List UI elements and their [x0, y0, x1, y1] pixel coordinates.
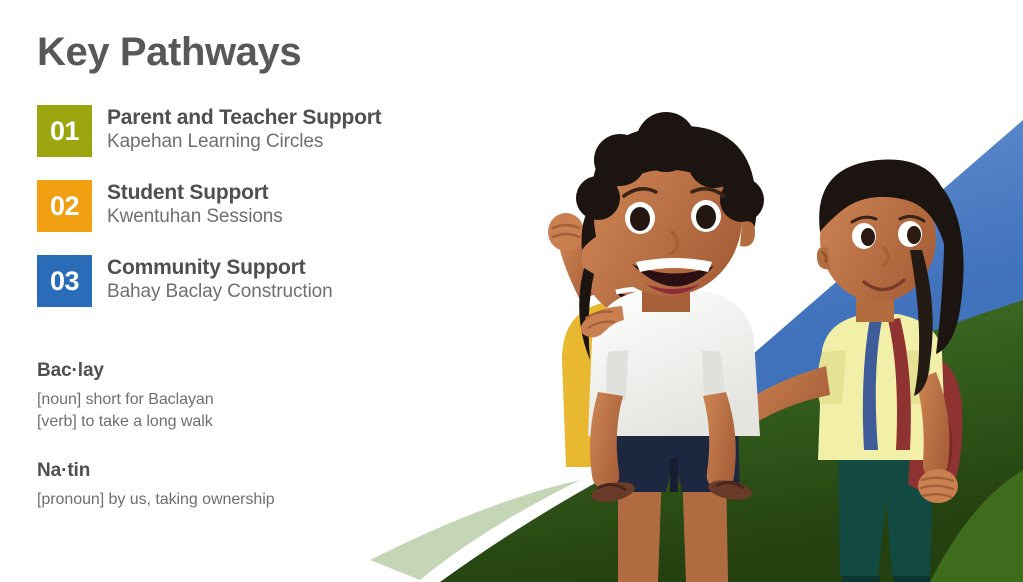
right-hand [918, 469, 958, 503]
glossary-definition-baclay-noun: [noun] short for Baclayan [37, 389, 214, 411]
glossary-term-natin: Na·tin [37, 460, 275, 482]
slide-canvas: Key Pathways 01 Parent and Teacher Suppo… [0, 0, 1023, 582]
pathway-item-02[interactable]: 02 Student Support Kwentuhan Sessions [37, 180, 283, 232]
pathway-subheading-01: Kapehan Learning Circles [107, 131, 381, 154]
pathway-subheading-03: Bahay Baclay Construction [107, 281, 333, 304]
pathway-item-03[interactable]: 03 Community Support Bahay Baclay Constr… [37, 255, 333, 307]
pathway-text-02: Student Support Kwentuhan Sessions [107, 180, 283, 229]
pathway-heading-02: Student Support [107, 181, 283, 206]
glossary-entry-baclay: Bac·lay [noun] short for Baclayan [verb]… [37, 360, 214, 433]
pathway-subheading-02: Kwentuhan Sessions [107, 206, 283, 229]
content-column: Key Pathways 01 Parent and Teacher Suppo… [0, 0, 520, 582]
pathway-text-03: Community Support Bahay Baclay Construct… [107, 255, 333, 304]
glossary-definition-baclay-verb: [verb] to take a long walk [37, 411, 214, 433]
page-title: Key Pathways [37, 30, 301, 74]
pathway-number-badge-02: 02 [37, 180, 92, 232]
pathway-item-01[interactable]: 01 Parent and Teacher Support Kapehan Le… [37, 105, 381, 157]
pathway-text-01: Parent and Teacher Support Kapehan Learn… [107, 105, 381, 154]
pathway-number-badge-03: 03 [37, 255, 92, 307]
glossary-entry-natin: Na·tin [pronoun] by us, taking ownership [37, 460, 275, 511]
pathway-heading-03: Community Support [107, 256, 333, 281]
glossary-definition-natin-pronoun: [pronoun] by us, taking ownership [37, 489, 275, 511]
pathway-number-badge-01: 01 [37, 105, 92, 157]
pathway-heading-01: Parent and Teacher Support [107, 106, 381, 131]
glossary-term-baclay: Bac·lay [37, 360, 214, 382]
